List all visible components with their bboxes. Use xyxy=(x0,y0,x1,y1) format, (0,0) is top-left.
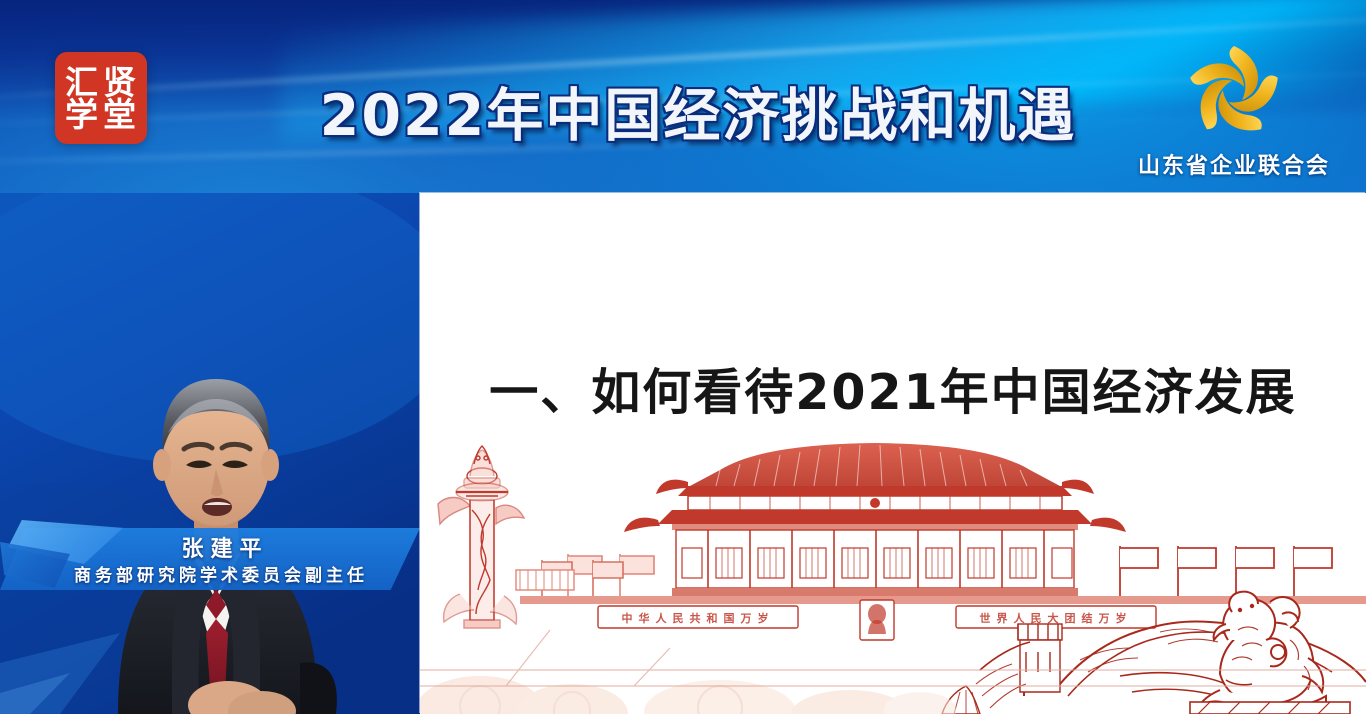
slide-heading: 一、如何看待2021年中国经济发展 xyxy=(420,353,1366,424)
tiananmen-illustration: 中华人民共和国万岁 世界人民大团结万岁 xyxy=(420,434,1366,714)
speaker-role: 商务部研究院学术委员会副主任 xyxy=(0,561,420,586)
organization-logo: 山东省企业联合会 xyxy=(1124,32,1344,180)
gold-pinwheel-star-icon xyxy=(1174,32,1294,152)
broadcast-frame: 汇 贤 学 堂 2022年中国经济挑战和机遇 xyxy=(0,0,1366,714)
portrait-frame xyxy=(868,604,886,634)
slogan-left: 中华人民共和国万岁 xyxy=(622,611,775,625)
grandstand xyxy=(516,570,574,590)
organization-name: 山东省企业联合会 xyxy=(1124,148,1344,180)
slogan-right: 世界人民大团结万岁 xyxy=(980,611,1133,625)
speaker-video xyxy=(0,193,420,714)
lower-third-banner: 张建平 商务部研究院学术委员会副主任 xyxy=(0,520,420,592)
speaker-name: 张建平 xyxy=(0,531,420,563)
presentation-slide: 一、如何看待2021年中国经济发展 xyxy=(420,193,1366,714)
